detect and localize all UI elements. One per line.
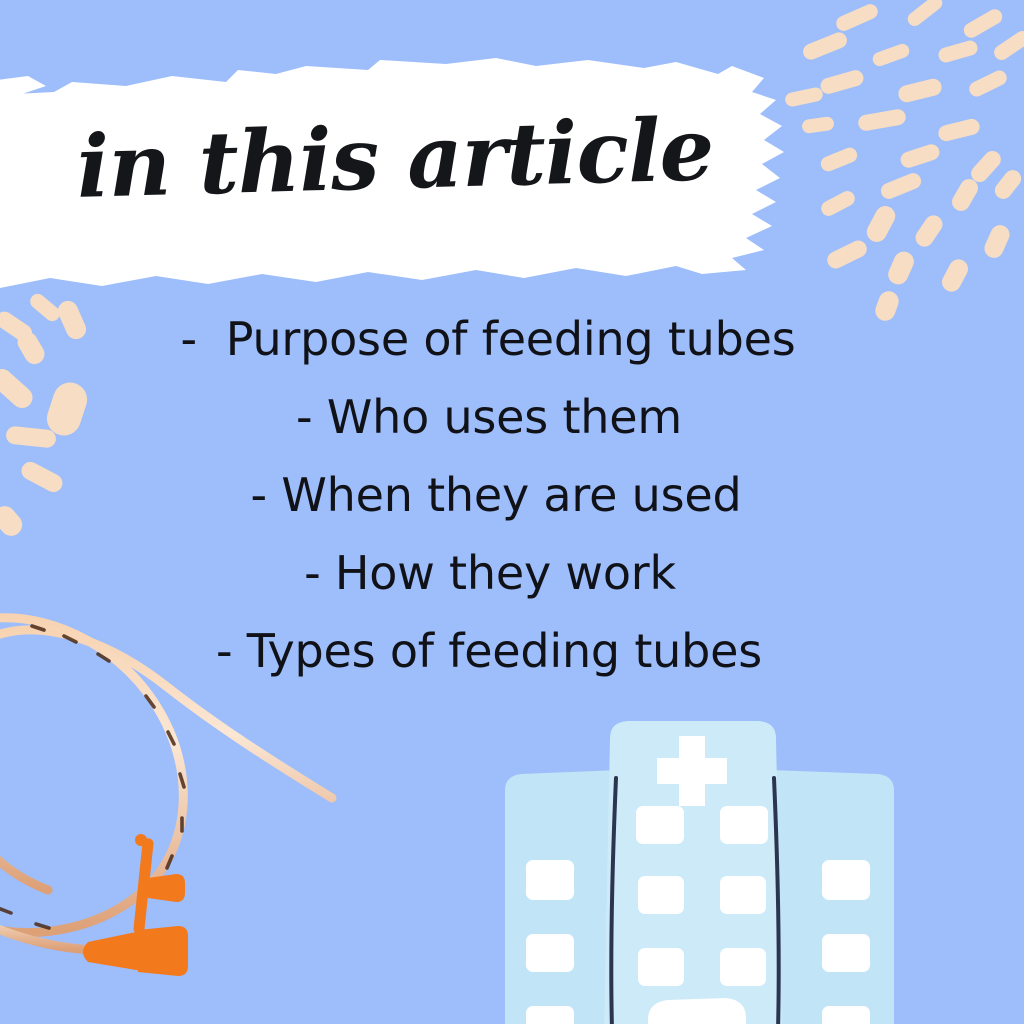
confetti-dash — [991, 167, 1024, 203]
confetti-dash — [937, 117, 982, 143]
confetti-dash — [897, 77, 944, 104]
feeding-tube-connector-cap — [148, 874, 185, 902]
list-item: - Who uses them — [0, 378, 1024, 456]
confetti-dash — [819, 145, 860, 173]
list-item: - Purpose of feeding tubes — [0, 300, 1024, 378]
feeding-tube-connector-port — [138, 926, 188, 976]
confetti-dash — [824, 238, 869, 272]
confetti-dash — [834, 2, 880, 34]
confetti-dash — [857, 108, 907, 132]
confetti-dash — [939, 256, 972, 295]
confetti-dash — [981, 222, 1012, 261]
confetti-dash — [905, 0, 945, 29]
confetti-dash — [885, 248, 917, 287]
confetti-dash — [801, 30, 850, 62]
confetti-dash — [949, 176, 982, 214]
hospital-building-illustration — [470, 700, 930, 1024]
confetti-dash — [968, 147, 1005, 185]
confetti-dash — [819, 68, 866, 96]
confetti-dash — [967, 68, 1010, 99]
confetti-dash — [871, 42, 911, 68]
confetti-dash — [991, 28, 1024, 63]
feeding-tube-illustration — [0, 590, 360, 1000]
confetti-dash — [961, 7, 1005, 41]
confetti-dash — [879, 171, 924, 202]
confetti-dash — [937, 39, 980, 64]
confetti-dash — [863, 203, 898, 246]
confetti-dash — [801, 116, 835, 134]
confetti-dash — [819, 188, 858, 218]
poster-canvas: in this article - Purpose of feeding tub… — [0, 0, 1024, 1024]
confetti-dash — [899, 142, 942, 170]
confetti-dash — [912, 212, 946, 250]
list-item: - When they are used — [0, 456, 1024, 534]
hospital-entrance — [648, 998, 746, 1024]
feeding-tube-connector-tip — [135, 834, 147, 846]
feeding-tube-distal-strand — [0, 630, 332, 890]
